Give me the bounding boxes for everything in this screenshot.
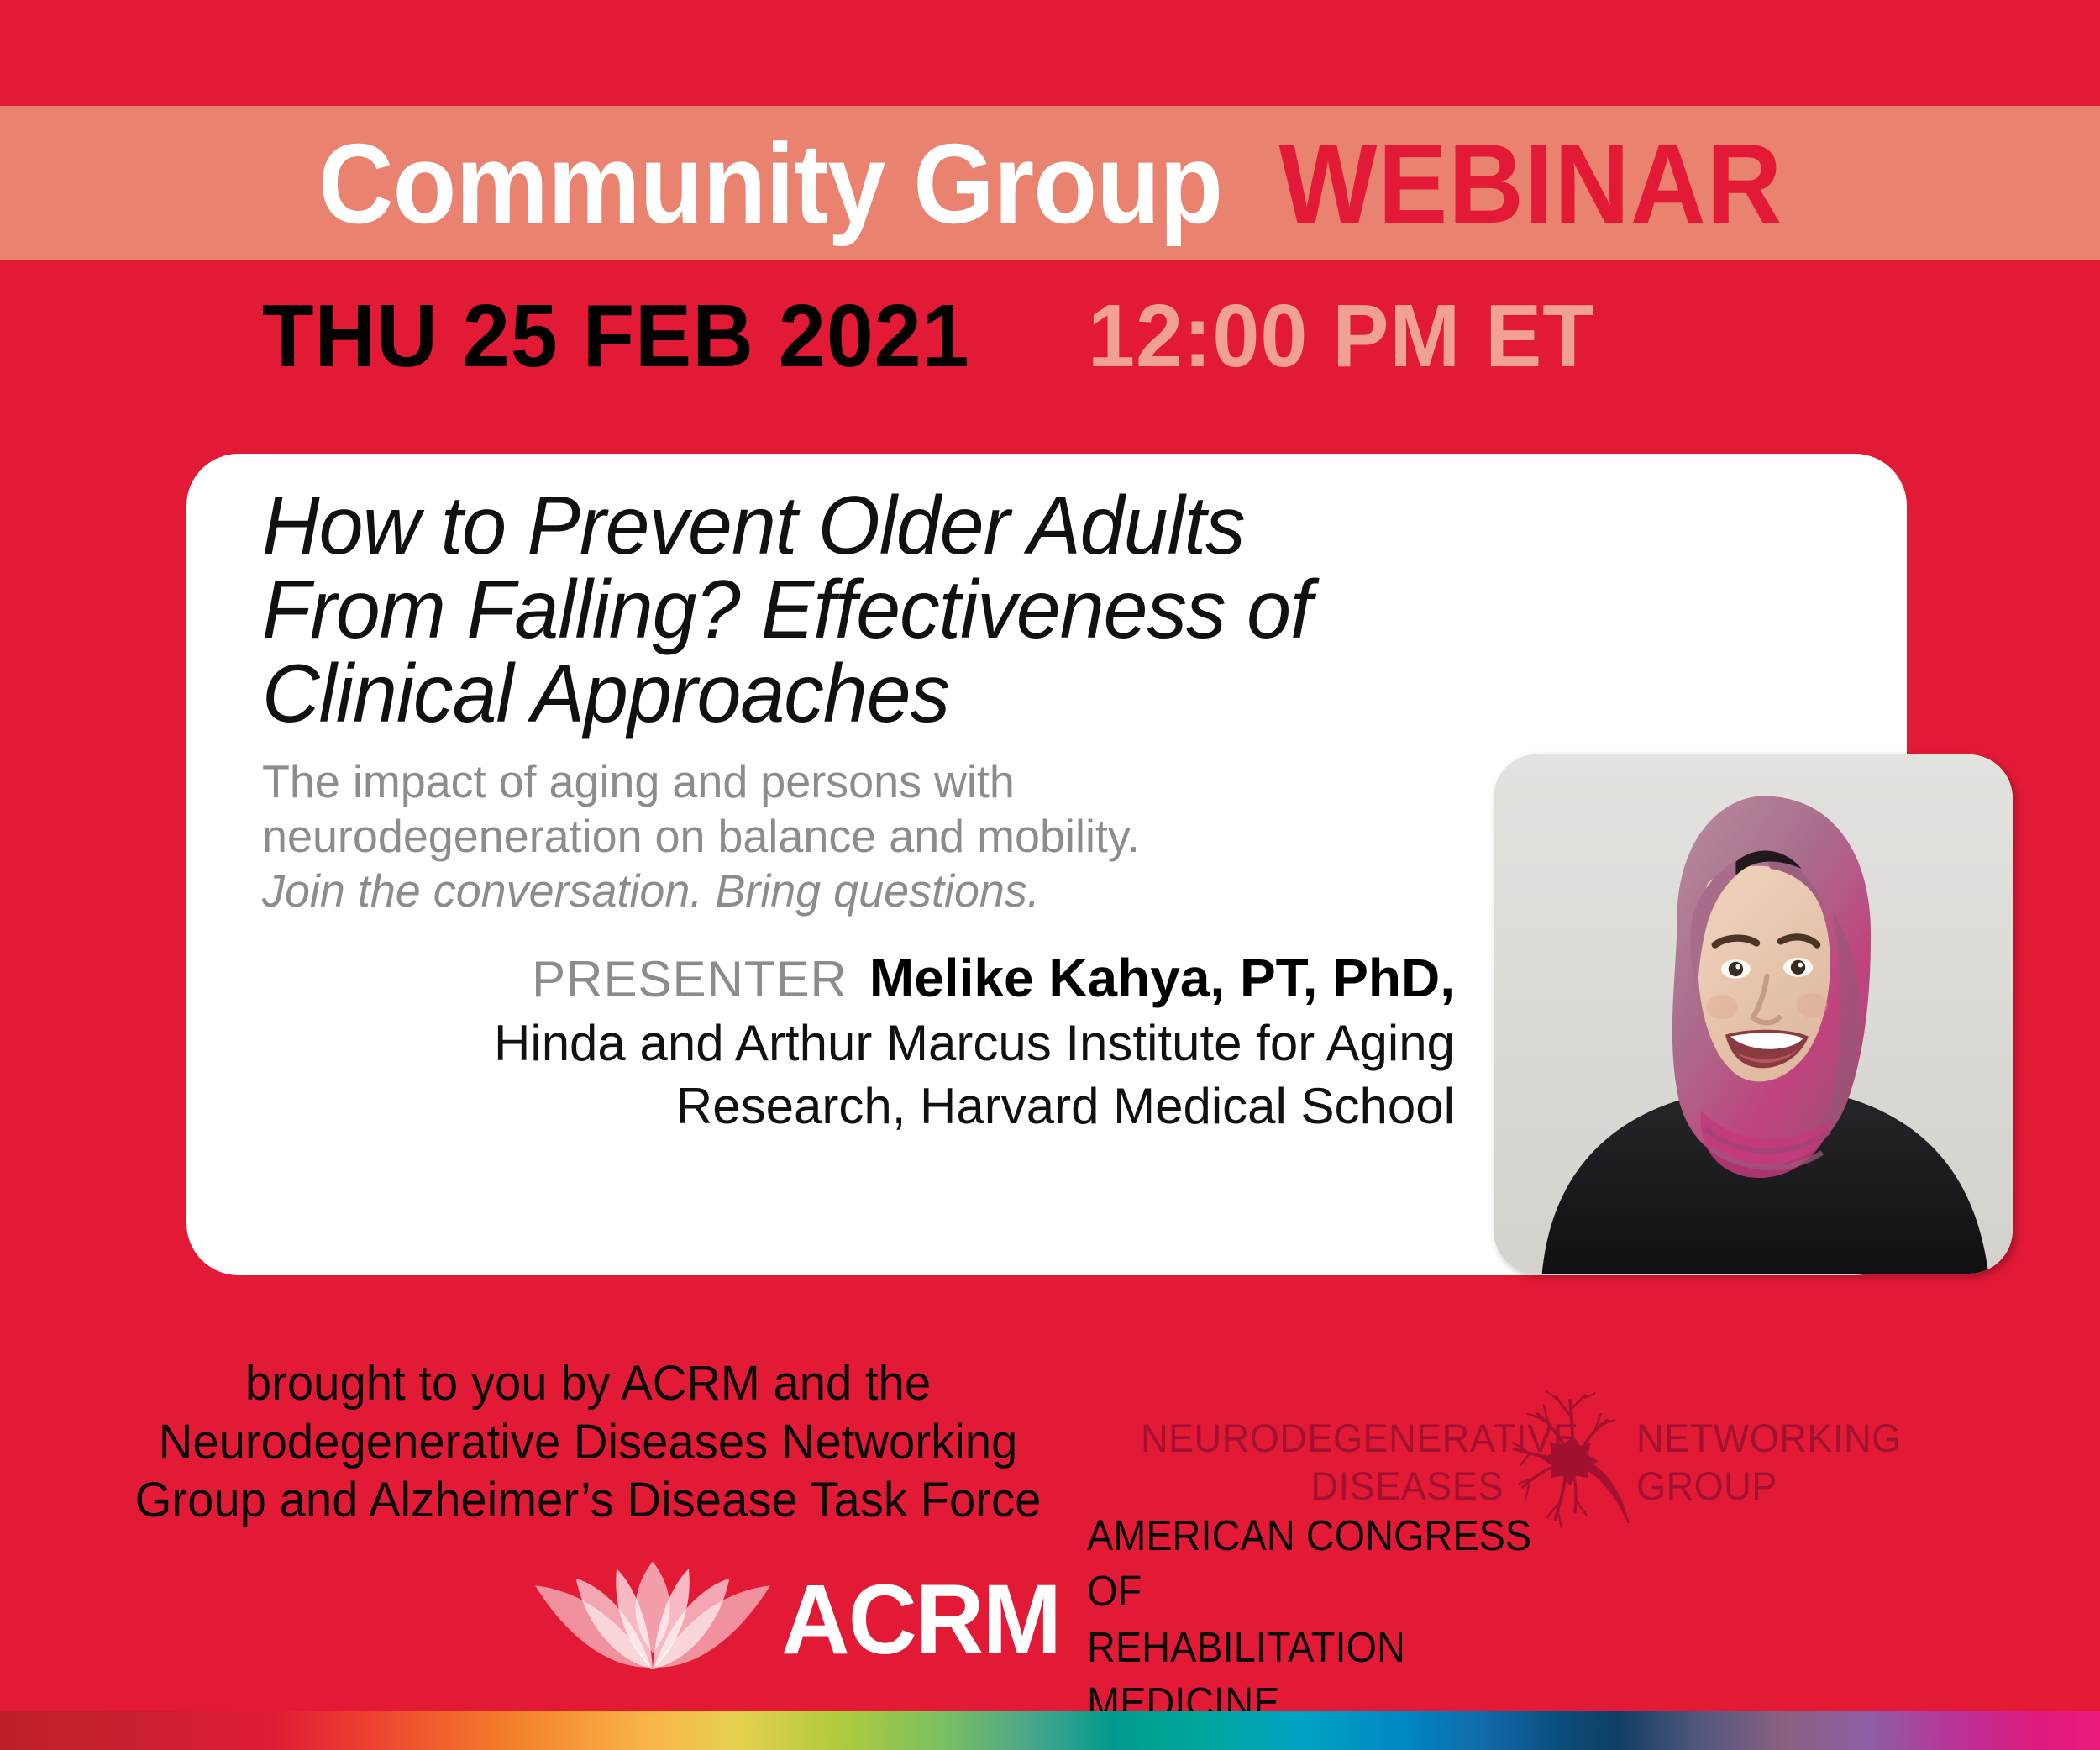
talk-description: The impact of aging and persons with neu…: [262, 754, 1398, 918]
header-title: Community Group WEBINAR: [318, 127, 1782, 240]
acrm-full-name: AMERICAN CONGRESS OF REHABILITATION MEDI…: [1087, 1508, 1549, 1731]
acrm-full-name-line-1: AMERICAN CONGRESS OF: [1087, 1508, 1549, 1620]
webinar-date: THU 25 FEB 2021: [262, 286, 970, 387]
presenter-affiliation-line-2: Research, Harvard Medical School: [262, 1077, 1455, 1136]
presenter-photo: [1494, 754, 2013, 1274]
talk-title: How to Prevent Older Adults From Falling…: [262, 484, 1566, 736]
presenter-label: PRESENTER: [532, 951, 848, 1007]
lotus-icon: [531, 1557, 774, 1683]
rainbow-footer-bar: [0, 1711, 2100, 1750]
header-title-community-group: Community Group: [318, 120, 1221, 247]
talk-title-line-2: From Falling? Effectiveness of: [262, 568, 1566, 652]
talk-description-line-1: The impact of aging and persons with: [262, 754, 1398, 809]
acrm-wordmark: ACRM: [781, 1570, 1060, 1669]
talk-description-invite: Join the conversation. Bring questions.: [262, 864, 1398, 918]
ndng-left-line-1: NEURODEGENERATIVE: [1141, 1414, 1504, 1462]
talk-title-line-3: Clinical Approaches: [262, 652, 1566, 736]
webinar-time: 12:00 PM ET: [1088, 286, 1595, 387]
webinar-poster: Community Group WEBINAR THU 25 FEB 2021 …: [0, 0, 2100, 1750]
card-content: How to Prevent Older Adults From Falling…: [262, 484, 1623, 1136]
ndng-right-text: NETWORKING GROUP: [1636, 1414, 1902, 1511]
talk-description-line-2: neurodegeneration on balance and mobilit…: [262, 809, 1398, 864]
credit-line-2: Neurodegenerative Diseases Networking: [115, 1413, 1060, 1472]
credit-line-1: brought to you by ACRM and the: [115, 1354, 1060, 1413]
ndng-right-line-2: GROUP: [1636, 1462, 1902, 1510]
ndng-left-text: NEURODEGENERATIVE DISEASES: [1141, 1414, 1504, 1511]
schedule-row: THU 25 FEB 2021 12:00 PM ET: [0, 286, 2100, 387]
top-red-strip: [0, 0, 2100, 106]
presenter-affiliation-line-1: Hinda and Arthur Marcus Institute for Ag…: [262, 1014, 1455, 1073]
presenter-name: Melike Kahya, PT, PhD,: [869, 948, 1455, 1008]
header-title-webinar: WEBINAR: [1278, 120, 1782, 247]
talk-title-line-1: How to Prevent Older Adults: [262, 484, 1566, 568]
presenter-name-row: PRESENTERMelike Kahya, PT, PhD,: [262, 947, 1455, 1009]
credit-text: brought to you by ACRM and the Neurodege…: [115, 1354, 1060, 1530]
credit-line-3: Group and Alzheimer’s Disease Task Force: [115, 1471, 1060, 1530]
presenter-block: PRESENTERMelike Kahya, PT, PhD, Hinda an…: [262, 947, 1455, 1136]
ndng-right-line-1: NETWORKING: [1636, 1414, 1902, 1462]
header-band: Community Group WEBINAR: [0, 106, 2100, 260]
ndng-left-line-2: DISEASES: [1141, 1462, 1504, 1510]
acrm-logo: ACRM AMERICAN CONGRESS OF REHABILITATION…: [531, 1550, 1589, 1689]
